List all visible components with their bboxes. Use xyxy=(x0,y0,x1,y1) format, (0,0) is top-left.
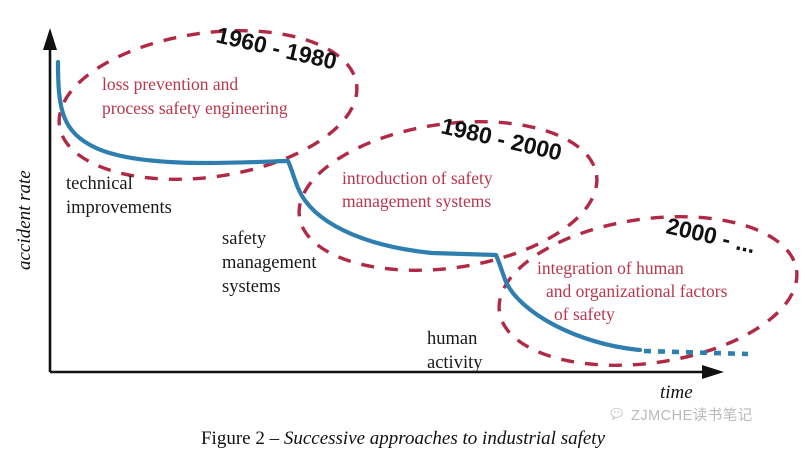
period-label-1: 1960 - 1980 xyxy=(214,22,339,75)
red-note-3-line1: integration of human xyxy=(537,258,684,278)
figure-caption-title: Successive approaches to industrial safe… xyxy=(284,428,605,449)
figure-caption-prefix: Figure 2 – xyxy=(201,428,284,449)
diagram-canvas: accident rate time 1960 - 1980 1980 - 20… xyxy=(0,0,806,474)
red-note-1: loss prevention and process safety engin… xyxy=(102,74,288,118)
black-note-3: human activity xyxy=(427,329,483,373)
wechat-logo-icon xyxy=(610,407,627,422)
red-note-2: introduction of safety management system… xyxy=(342,168,493,211)
red-note-3: integration of human and organizational … xyxy=(537,258,728,324)
watermark-text: ZJMCHE读书笔记 xyxy=(631,404,753,425)
red-note-1-line2: process safety engineering xyxy=(102,98,288,118)
black-note-1: technical improvements xyxy=(66,174,172,218)
red-note-2-line1: introduction of safety xyxy=(342,168,493,188)
black-note-2-line3: systems xyxy=(222,277,281,297)
black-note-3-line2: activity xyxy=(427,353,483,373)
y-axis-label: accident rate xyxy=(14,170,35,270)
red-note-2-line2: management systems xyxy=(342,191,491,211)
red-note-3-line3: of safety xyxy=(554,304,615,324)
period-label-2: 1980 - 2000 xyxy=(439,113,564,166)
figure-caption: Figure 2 – Successive approaches to indu… xyxy=(0,428,806,450)
x-axis-label: time xyxy=(660,382,693,403)
figure-container: accident rate time 1960 - 1980 1980 - 20… xyxy=(0,0,806,474)
black-note-2: safety management systems xyxy=(222,229,317,297)
x-axis-arrowhead xyxy=(702,365,724,379)
black-note-2-line2: management xyxy=(222,253,317,273)
black-note-2-line1: safety xyxy=(222,229,267,249)
red-note-3-line2: and organizational factors xyxy=(546,281,728,301)
red-note-1-line1: loss prevention and xyxy=(102,74,238,94)
black-note-1-line1: technical xyxy=(66,174,133,194)
black-note-3-line1: human xyxy=(427,329,477,349)
accident-rate-curve-projection xyxy=(644,351,748,354)
y-axis-arrowhead xyxy=(43,28,57,50)
black-note-1-line2: improvements xyxy=(66,198,172,218)
watermark: ZJMCHE读书笔记 xyxy=(610,404,753,425)
